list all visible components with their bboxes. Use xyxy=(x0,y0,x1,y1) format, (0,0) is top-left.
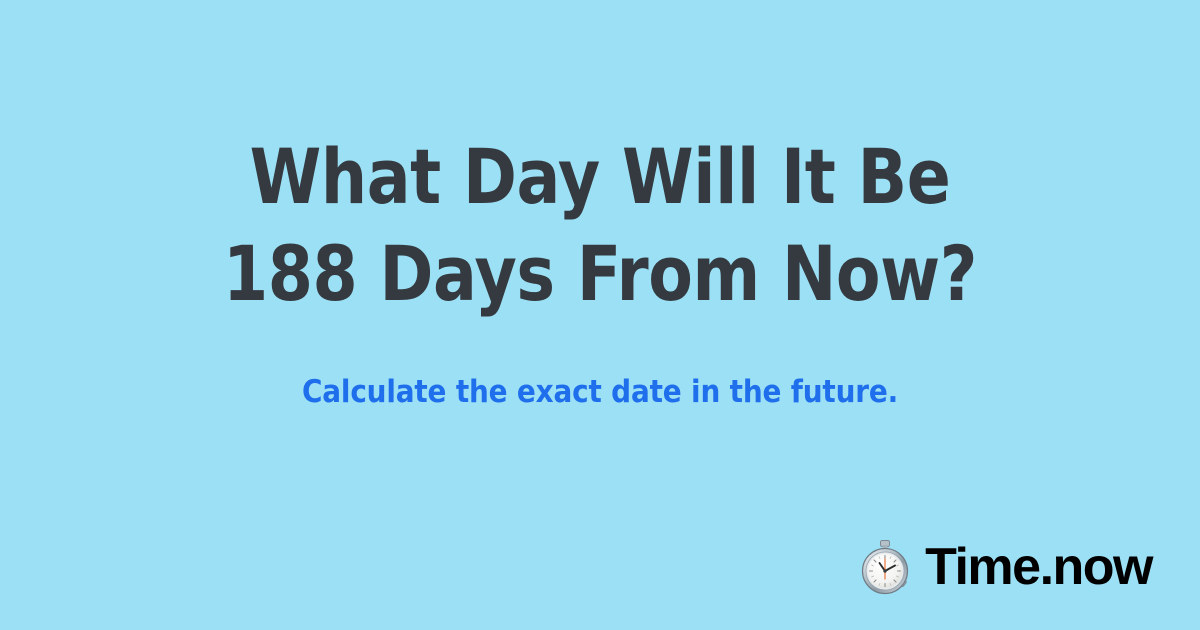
page-title: What Day Will It Be 188 Days From Now? xyxy=(87,128,1113,322)
hero-block: What Day Will It Be 188 Days From Now? C… xyxy=(0,128,1200,410)
page-title-line-1: What Day Will It Be xyxy=(87,128,1113,225)
stopwatch-icon xyxy=(859,539,911,595)
brand-lockup: Time.now xyxy=(859,539,1152,595)
page-subtitle: Calculate the exact date in the future. xyxy=(60,374,1140,410)
social-share-card: What Day Will It Be 188 Days From Now? C… xyxy=(0,0,1200,630)
brand-name: Time.now xyxy=(925,539,1152,595)
page-title-line-2: 188 Days From Now? xyxy=(87,225,1113,322)
